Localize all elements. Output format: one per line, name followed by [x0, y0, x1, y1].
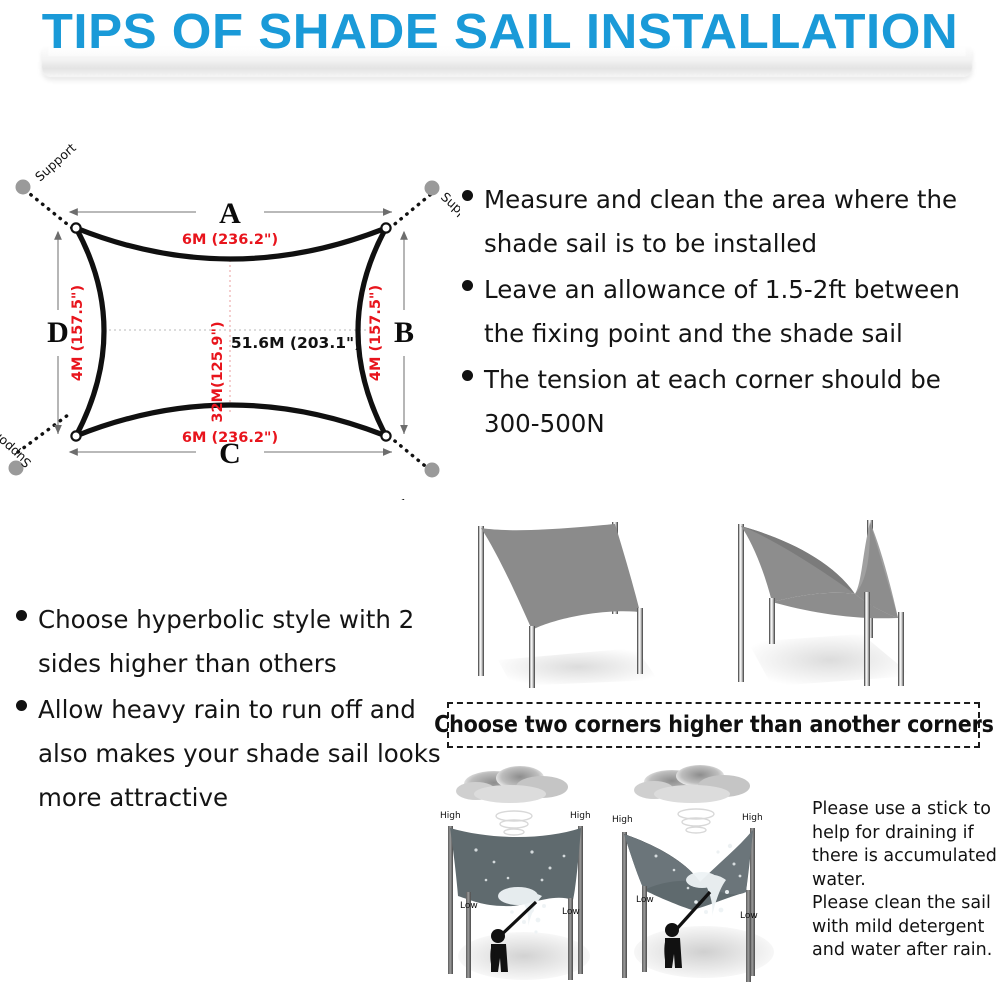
bullet-dot-icon — [462, 370, 473, 381]
support-label-top-right: Support — [438, 189, 460, 233]
bullet-dot-icon — [16, 610, 27, 621]
installation-tips-left-list: Choose hyperbolic style with 2 sides hig… — [16, 598, 446, 822]
corner-label-high-left: High — [612, 815, 633, 825]
dimension-guides — [58, 212, 404, 452]
support-label-bottom-right: Support — [365, 496, 412, 500]
list-item-label: Measure and clean the area where the sha… — [484, 178, 1000, 266]
corner-label-high-right: High — [742, 813, 763, 823]
list-item: Leave an allowance of 1.5-2ft between th… — [462, 268, 1000, 356]
cloud-icon — [456, 766, 568, 803]
care-note-line: help for draining if — [812, 822, 1000, 846]
corner-label-low-left: Low — [636, 895, 654, 905]
support-label-top-left: Support — [32, 140, 79, 184]
care-instructions-note: Please use a stick to help for draining … — [812, 798, 1000, 963]
dimension-vertical-center: 32M(125.9") — [210, 321, 226, 422]
page-title: TIPS OF SHADE SAIL INSTALLATION — [0, 4, 1000, 60]
care-note-line: with mild detergent — [812, 916, 1000, 940]
list-item-label: Choose hyperbolic style with 2 sides hig… — [38, 598, 446, 686]
corner-label-high-left: High — [440, 811, 461, 821]
shade-sail-two-high-corners-illustration — [440, 508, 706, 702]
list-item-label: Allow heavy rain to run off and also mak… — [38, 688, 446, 820]
list-item: Measure and clean the area where the sha… — [462, 178, 1000, 266]
edge-label-a: A — [219, 197, 241, 230]
list-item-label: The tension at each corner should be 300… — [484, 358, 1000, 446]
corner-height-callout-text: Choose two corners higher than another c… — [434, 712, 994, 738]
shade-sail-dimension-diagram: Support Support Support Support A C D B … — [0, 140, 460, 500]
dimension-bottom-edge: 6M (236.2") — [182, 430, 278, 446]
title-banner: TIPS OF SHADE SAIL INSTALLATION — [0, 0, 1000, 92]
corner-label-high-right: High — [570, 811, 591, 821]
edge-label-d: D — [47, 316, 69, 349]
rain-drainage-illustrations: High High Low Low — [432, 760, 812, 1000]
bullet-dot-icon — [462, 190, 473, 201]
dimension-left-edge: 4M (157.5") — [70, 285, 86, 381]
rain-drain-twisted-sail-illustration: High High Low Low — [600, 760, 800, 1000]
corner-label-low-right: Low — [740, 911, 758, 921]
rain-swirl — [496, 811, 532, 835]
dimension-right-edge: 4M (157.5") — [368, 285, 384, 381]
infographic-page: TIPS OF SHADE SAIL INSTALLATION — [0, 0, 1000, 1000]
corner-label-low-left: Low — [460, 901, 478, 911]
bullet-dot-icon — [462, 280, 473, 291]
edge-label-b: B — [394, 316, 414, 349]
dimension-horizontal-center: 51.6M (203.1") — [231, 334, 361, 352]
sail-corner-rings — [71, 223, 390, 440]
installation-tips-right-list: Measure and clean the area where the sha… — [462, 178, 1000, 448]
list-item-label: Leave an allowance of 1.5-2ft between th… — [484, 268, 1000, 356]
care-note-line: water. — [812, 869, 1000, 893]
dimension-top-edge: 6M (236.2") — [182, 232, 278, 248]
care-note-line: Please clean the sail — [812, 892, 1000, 916]
cloud-icon — [634, 765, 750, 803]
list-item: Choose hyperbolic style with 2 sides hig… — [16, 598, 446, 686]
care-note-line: Please use a stick to — [812, 798, 1000, 822]
bullet-dot-icon — [16, 700, 27, 711]
shade-sail-hyperbolic-twist-illustration — [712, 508, 992, 702]
sail-style-illustrations — [440, 508, 1000, 698]
list-item: The tension at each corner should be 300… — [462, 358, 1000, 446]
rain-drain-flat-sail-illustration: High High Low Low — [432, 760, 612, 1000]
sail-outline — [76, 228, 386, 436]
list-item: Allow heavy rain to run off and also mak… — [16, 688, 446, 820]
care-note-line: and water after rain. — [812, 939, 1000, 963]
corner-label-low-right: Low — [562, 907, 580, 917]
care-note-line: there is accumulated — [812, 845, 1000, 869]
support-label-bottom-left: Support — [0, 427, 34, 471]
corner-height-callout-box: Choose two corners higher than another c… — [447, 702, 980, 748]
rain-swirl — [678, 809, 714, 833]
